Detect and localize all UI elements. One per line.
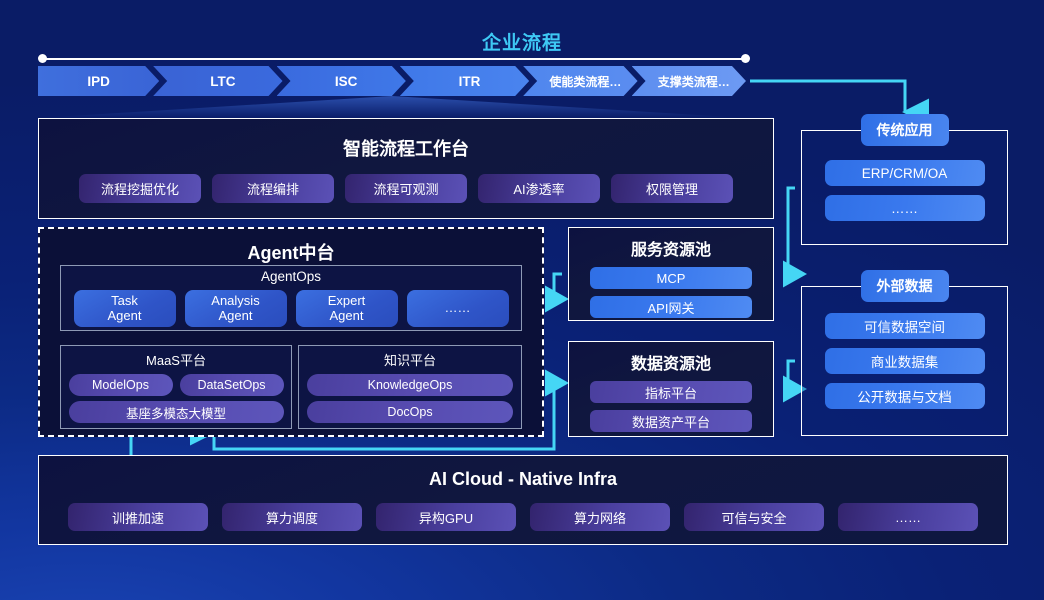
workbench-item-orchestration[interactable]: 流程编排 bbox=[212, 174, 334, 203]
agent-card-expert-line1: Expert bbox=[328, 294, 366, 309]
connector-extdata-to-datapool bbox=[786, 361, 795, 389]
maas-item-foundation-model[interactable]: 基座多模态大模型 bbox=[69, 401, 284, 423]
funnel-decoration bbox=[38, 96, 746, 118]
process-rail bbox=[40, 58, 746, 60]
service-pool-list: MCP API网关 bbox=[569, 267, 773, 318]
data-pool-panel: 数据资源池 指标平台 数据资产平台 bbox=[568, 341, 774, 437]
maas-row-foundation: 基座多模态大模型 bbox=[61, 401, 291, 423]
connector-flow-to-apps bbox=[750, 81, 905, 112]
knowledge-row-1: KnowledgeOps bbox=[299, 374, 521, 396]
traditional-apps-badge: 传统应用 bbox=[861, 114, 949, 146]
data-pool-list: 指标平台 数据资产平台 bbox=[569, 381, 773, 432]
infra-item-trust-security[interactable]: 可信与安全 bbox=[684, 503, 824, 531]
knowledge-item-knowledgeops[interactable]: KnowledgeOps bbox=[307, 374, 513, 396]
workbench-item-mining[interactable]: 流程挖掘优化 bbox=[79, 174, 201, 203]
agent-card-analysis-line1: Analysis bbox=[211, 294, 259, 309]
infra-item-training-acceleration[interactable]: 训推加速 bbox=[68, 503, 208, 531]
connector-apps-to-servicepool bbox=[786, 188, 795, 274]
workbench-item-observability[interactable]: 流程可观测 bbox=[345, 174, 467, 203]
agent-card-more-label: …… bbox=[445, 301, 471, 316]
agent-card-more[interactable]: …… bbox=[407, 290, 509, 327]
external-data-item-public-docs[interactable]: 公开数据与文档 bbox=[825, 383, 985, 409]
infra-item-compute-scheduling[interactable]: 算力调度 bbox=[222, 503, 362, 531]
diagram-canvas: 企业流程 IPD LTC ISC ITR 使能类流程… 支撑类流程… 智能流程工… bbox=[0, 0, 1044, 600]
data-pool-title: 数据资源池 bbox=[569, 350, 773, 374]
service-pool-item-api-gateway[interactable]: API网关 bbox=[590, 296, 752, 318]
infra-item-compute-network[interactable]: 算力网络 bbox=[530, 503, 670, 531]
process-step-enabling[interactable]: 使能类流程… bbox=[523, 66, 637, 96]
maas-title: MaaS平台 bbox=[61, 350, 291, 369]
process-rail-dot-right bbox=[741, 54, 750, 63]
knowledge-platform-box: 知识平台 KnowledgeOps DocOps bbox=[298, 345, 522, 429]
agentops-box: AgentOps Task Agent Analysis Agent Exper… bbox=[60, 265, 522, 331]
external-data-badge: 外部数据 bbox=[861, 270, 949, 302]
process-step-supporting[interactable]: 支撑类流程… bbox=[632, 66, 746, 96]
external-data-panel: 外部数据 可信数据空间 商业数据集 公开数据与文档 bbox=[801, 286, 1008, 436]
process-step-ltc[interactable]: LTC bbox=[153, 66, 282, 96]
workbench-panel: 智能流程工作台 流程挖掘优化 流程编排 流程可观测 AI渗透率 权限管理 bbox=[38, 118, 774, 219]
agent-card-task[interactable]: Task Agent bbox=[74, 290, 176, 327]
service-pool-item-mcp[interactable]: MCP bbox=[590, 267, 752, 289]
agent-card-task-line1: Task bbox=[111, 294, 138, 309]
traditional-apps-list: ERP/CRM/OA …… bbox=[802, 160, 1007, 221]
connector-servicepool-to-agent bbox=[548, 274, 562, 299]
maas-item-modelops[interactable]: ModelOps bbox=[69, 374, 173, 396]
agent-card-expert[interactable]: Expert Agent bbox=[296, 290, 398, 327]
agentops-title: AgentOps bbox=[61, 269, 521, 284]
page-title: 企业流程 bbox=[0, 28, 1044, 55]
agentops-agent-list: Task Agent Analysis Agent Expert Agent …… bbox=[61, 290, 521, 327]
workbench-item-permissions[interactable]: 权限管理 bbox=[611, 174, 733, 203]
external-data-list: 可信数据空间 商业数据集 公开数据与文档 bbox=[802, 313, 1007, 409]
external-data-item-trusted-space[interactable]: 可信数据空间 bbox=[825, 313, 985, 339]
maas-item-datasetops[interactable]: DataSetOps bbox=[180, 374, 284, 396]
service-pool-panel: 服务资源池 MCP API网关 bbox=[568, 227, 774, 321]
process-flow-strip: IPD LTC ISC ITR 使能类流程… 支撑类流程… bbox=[38, 66, 746, 96]
workbench-item-list: 流程挖掘优化 流程编排 流程可观测 AI渗透率 权限管理 bbox=[39, 174, 773, 203]
maas-box: MaaS平台 ModelOps DataSetOps 基座多模态大模型 bbox=[60, 345, 292, 429]
traditional-apps-item-erp[interactable]: ERP/CRM/OA bbox=[825, 160, 985, 186]
infra-panel: AI Cloud - Native Infra 训推加速 算力调度 异构GPU … bbox=[38, 455, 1008, 545]
process-step-ipd[interactable]: IPD bbox=[38, 66, 159, 96]
service-pool-title: 服务资源池 bbox=[569, 236, 773, 260]
workbench-item-ai-penetration[interactable]: AI渗透率 bbox=[478, 174, 600, 203]
knowledge-row-2: DocOps bbox=[299, 401, 521, 423]
workbench-title: 智能流程工作台 bbox=[39, 135, 773, 161]
traditional-apps-item-more[interactable]: …… bbox=[825, 195, 985, 221]
maas-row-ops: ModelOps DataSetOps bbox=[61, 374, 291, 396]
agent-card-analysis[interactable]: Analysis Agent bbox=[185, 290, 287, 327]
traditional-apps-panel: 传统应用 ERP/CRM/OA …… bbox=[801, 130, 1008, 245]
infra-item-heterogeneous-gpu[interactable]: 异构GPU bbox=[376, 503, 516, 531]
process-step-isc[interactable]: ISC bbox=[277, 66, 406, 96]
infra-item-list: 训推加速 算力调度 异构GPU 算力网络 可信与安全 …… bbox=[39, 503, 1007, 531]
agent-card-task-line2: Agent bbox=[108, 309, 142, 324]
infra-item-more[interactable]: …… bbox=[838, 503, 978, 531]
infra-title: AI Cloud - Native Infra bbox=[39, 469, 1007, 490]
external-data-item-commercial[interactable]: 商业数据集 bbox=[825, 348, 985, 374]
process-step-itr[interactable]: ITR bbox=[400, 66, 529, 96]
data-pool-item-metrics[interactable]: 指标平台 bbox=[590, 381, 752, 403]
process-rail-dot-left bbox=[38, 54, 47, 63]
agent-card-analysis-line2: Agent bbox=[219, 309, 253, 324]
knowledge-platform-title: 知识平台 bbox=[299, 350, 521, 369]
agent-hub-title: Agent中台 bbox=[40, 239, 542, 265]
data-pool-item-asset-platform[interactable]: 数据资产平台 bbox=[590, 410, 752, 432]
knowledge-item-docops[interactable]: DocOps bbox=[307, 401, 513, 423]
agent-card-expert-line2: Agent bbox=[330, 309, 364, 324]
